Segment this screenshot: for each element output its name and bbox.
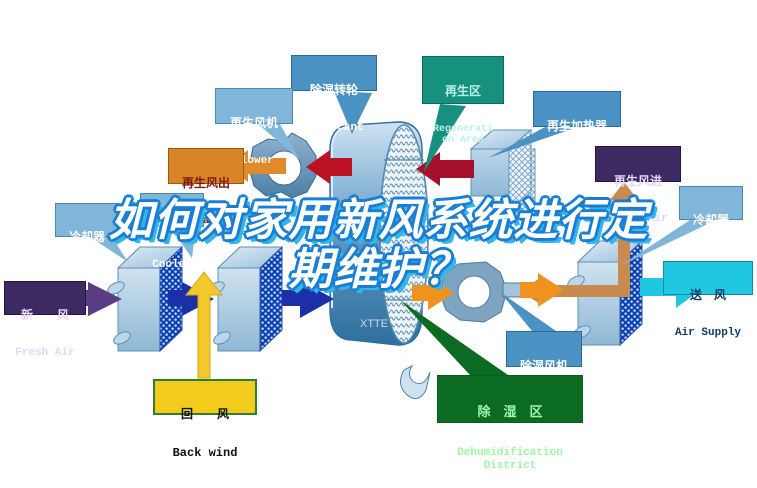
label-cn: 除湿转轮 [292,84,376,97]
label-back-wind[interactable]: 回 风 Back wind [153,379,257,415]
label-en: Cooler [141,260,203,272]
label-cn: 冷却器 [141,221,203,234]
label-cn: 再生风进 [596,175,680,188]
label-cooler-right[interactable]: 冷却器 Cooler [679,186,743,220]
label-dehum-blower[interactable]: 除湿风机 Blower [506,331,582,367]
label-desiccant-wheel[interactable]: 除湿转轮 Desiccant [291,55,377,91]
label-en: Back wind [155,447,255,460]
label-en: Air Supply [664,328,752,340]
label-cn: 冷却器 [680,214,742,227]
label-regeneration-area[interactable]: 再生区 Regenerati on Area [422,56,504,104]
label-en: Fresh Air [596,214,680,226]
label-cooler-mid[interactable]: 冷却器 Cooler [140,193,204,227]
label-cooler-left[interactable]: 冷却器 Cooler [55,203,119,237]
label-cn: 除湿风机 [507,360,581,373]
label-regen-fresh-air[interactable]: 再生风进 Fresh Air [595,146,681,182]
label-regen-exhaust[interactable]: 再生风出 Exhaust [168,148,244,184]
cooler-coil-2 [206,247,282,351]
label-dehum-district[interactable]: 除 湿 区 Dehumidification District [437,375,583,423]
label-cn: 冷却器 [56,231,118,244]
watermark: XTTE [360,318,388,330]
label-air-supply[interactable]: 送 风 Air Supply [663,261,753,295]
label-cn: 再生风出 [169,177,243,190]
label-en: Fresh Air [5,348,85,360]
rotor-drive-belt [400,366,430,399]
label-en: Regenerati on Area [423,124,503,147]
label-cn: 除 湿 区 [438,405,582,419]
label-cn: 再生风机 [216,117,292,130]
label-cn: 再生区 [423,85,503,98]
blower-out-arrow [520,273,564,307]
label-cn: 新 风 [5,309,85,322]
label-cn: 再生加热器 [534,120,620,133]
label-en: Cooler [56,270,118,282]
label-regen-heater[interactable]: 再生加热器 heater [533,91,621,127]
label-fresh-air-inlet[interactable]: 新 风 Fresh Air [4,281,86,315]
label-regen-blower[interactable]: 再生风机 Blower [215,88,293,124]
diagram-canvas: 除湿转轮 Desiccant 再生风机 Blower 再生区 Regenerat… [0,0,757,488]
coil2-arrow [282,280,334,318]
label-cn: 送 风 [664,289,752,302]
label-cn: 回 风 [155,408,255,421]
label-en: Desiccant [292,123,376,135]
label-en: Dehumidification District [438,447,582,472]
